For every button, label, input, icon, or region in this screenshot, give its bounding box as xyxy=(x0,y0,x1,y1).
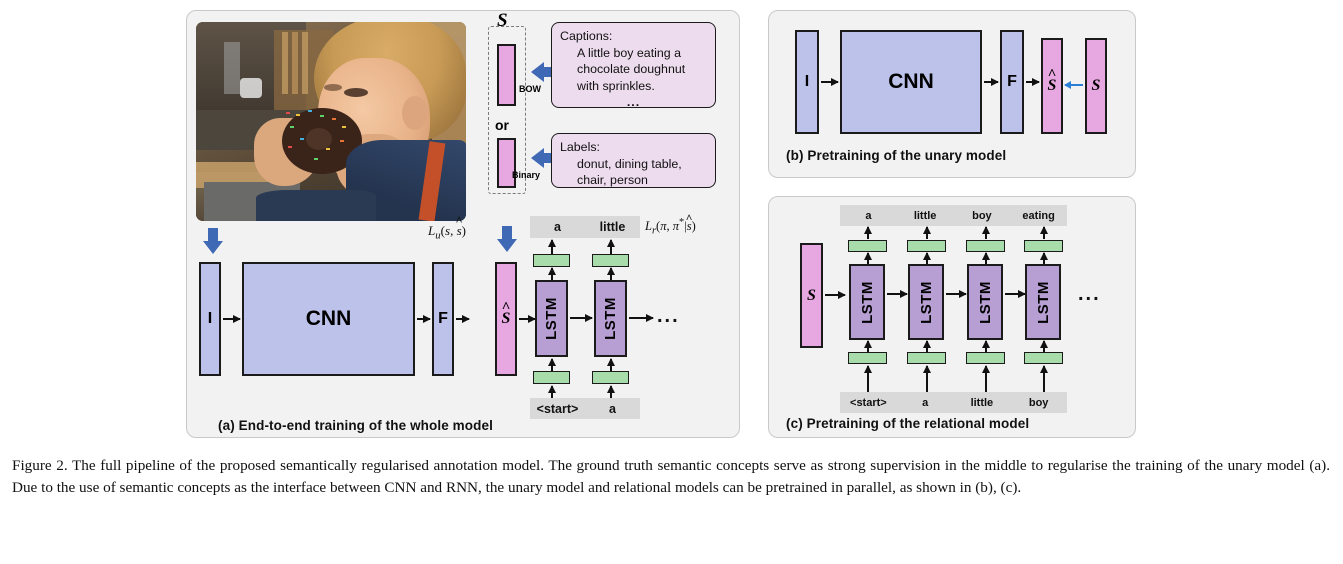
relational-loss-label: Lr(π, π*|s) xyxy=(645,217,696,237)
panel-a-caption: (a) End-to-end training of the whole mod… xyxy=(218,418,493,433)
labels-box: Labels: donut, dining table, chair, pers… xyxy=(551,133,716,188)
arrow-lstm-to-embed-c-3 xyxy=(1043,253,1045,264)
embed-out-c-3 xyxy=(1024,240,1063,252)
arrow-embed-to-lstm-a-1 xyxy=(610,359,612,371)
shat-symbol-a: S xyxy=(502,310,511,328)
unary-loss-label: Lu(s, s) xyxy=(428,223,466,242)
lstm-label-c-0: LSTM xyxy=(859,281,876,324)
arrow-embed-to-word-c-3 xyxy=(1043,227,1045,239)
bow-arrow-label: BOW xyxy=(519,84,541,94)
panel-c-caption: (c) Pretraining of the relational model xyxy=(786,416,1029,431)
arrow-embed-to-lstm-c-1 xyxy=(926,341,928,352)
output-word-c-3: eating xyxy=(1010,210,1067,222)
captions-box: Captions: A little boy eating a chocolat… xyxy=(551,22,716,108)
output-word-a-0: a xyxy=(530,220,585,234)
arrow-CNN-to-F xyxy=(417,318,430,320)
s-symbol-c: S xyxy=(807,287,816,305)
arrow-embed-to-word-a-1 xyxy=(610,240,612,254)
input-word-c-1: a xyxy=(897,397,954,409)
labels-line-1: donut, dining table, xyxy=(560,156,707,173)
arrow-Shat-to-LSTM xyxy=(519,318,535,320)
embed-out-c-1 xyxy=(907,240,946,252)
embed-in-a-1 xyxy=(592,371,629,384)
arrow-word-to-embed-a-0 xyxy=(551,386,553,398)
arrow-embed-to-lstm-c-3 xyxy=(1043,341,1045,352)
arrow-lstm-to-embed-c-1 xyxy=(926,253,928,264)
s-binary-bar xyxy=(497,138,516,188)
output-word-c-1: little xyxy=(897,210,954,222)
embed-out-c-2 xyxy=(966,240,1005,252)
arrow-word-to-embed-c-3 xyxy=(1043,366,1045,392)
arrow-lstm-to-embed-a-0 xyxy=(551,268,553,280)
block-shat-a: S xyxy=(495,262,517,376)
arrow-embed-to-word-c-1 xyxy=(926,227,928,239)
labels-line-2: chair, person xyxy=(560,172,707,189)
lstm-cell-c-1: LSTM xyxy=(908,264,944,340)
captions-ellipsis: ... xyxy=(560,94,707,111)
arrow-embed-to-lstm-c-0 xyxy=(867,341,869,352)
block-feature-F-b: F xyxy=(1000,30,1024,134)
embed-out-c-0 xyxy=(848,240,887,252)
ellipsis-a: ... xyxy=(657,305,680,328)
arrow-word-to-embed-a-1 xyxy=(610,386,612,398)
arrow-S-to-lstm-c xyxy=(825,294,845,296)
panel-b-caption: (b) Pretraining of the unary model xyxy=(786,148,1006,163)
input-word-c-3: boy xyxy=(1010,397,1067,409)
captions-title: Captions: xyxy=(560,28,707,45)
lstm-cell-c-0: LSTM xyxy=(849,264,885,340)
arrow-word-to-embed-c-0 xyxy=(867,366,869,392)
captions-line-3: with sprinkles. xyxy=(560,78,707,95)
lstm-label-c-2: LSTM xyxy=(977,281,994,324)
semantic-symbol-S: S xyxy=(497,10,508,32)
embed-in-c-3 xyxy=(1024,352,1063,364)
embed-in-a-0 xyxy=(533,371,570,384)
arrow-lstm-a-0-to-1 xyxy=(570,317,592,319)
arrow-lstm-c-2-to-3 xyxy=(1005,293,1025,295)
embed-in-c-0 xyxy=(848,352,887,364)
block-input-I-a: I xyxy=(199,262,221,376)
arrow-F-to-Shat-b xyxy=(1026,81,1039,83)
lstm-cell-c-2: LSTM xyxy=(967,264,1003,340)
input-word-a-1: a xyxy=(585,402,640,416)
ellipsis-c: ... xyxy=(1078,283,1101,306)
s-bow-bar xyxy=(497,44,516,106)
lstm-label-a-0: LSTM xyxy=(543,297,560,340)
output-word-strip-c: a little boy eating xyxy=(840,205,1067,226)
input-word-c-0: <start> xyxy=(840,397,897,409)
input-word-strip-c: <start> a little boy xyxy=(840,392,1067,413)
arrow-lstm-c-1-to-2 xyxy=(946,293,966,295)
example-photo xyxy=(196,22,466,221)
arrow-embed-to-lstm-c-2 xyxy=(985,341,987,352)
lstm-cell-a-0: LSTM xyxy=(535,280,568,357)
arrow-I-to-CNN-b xyxy=(821,81,838,83)
binary-arrow-label: Binary xyxy=(512,170,540,180)
labels-title: Labels: xyxy=(560,139,707,156)
arrow-S-to-Shat-b xyxy=(1065,84,1083,86)
arrow-embed-to-lstm-a-0 xyxy=(551,359,553,371)
embed-out-a-0 xyxy=(533,254,570,267)
shat-symbol-b: S xyxy=(1048,77,1057,95)
input-word-strip-a: <start> a xyxy=(530,398,640,419)
block-input-I-b: I xyxy=(795,30,819,134)
arrow-embed-to-word-c-0 xyxy=(867,227,869,239)
arrow-lstm-to-embed-a-1 xyxy=(610,268,612,280)
input-word-a-0: <start> xyxy=(530,402,585,416)
block-cnn-b: CNN xyxy=(840,30,982,134)
lstm-label-a-1: LSTM xyxy=(602,297,619,340)
arrow-word-to-embed-c-1 xyxy=(926,366,928,392)
arrow-I-to-CNN xyxy=(223,318,240,320)
captions-line-2: chocolate doughnut xyxy=(560,61,707,78)
or-label: or xyxy=(495,117,509,133)
captions-line-1: A little boy eating a xyxy=(560,45,707,62)
figure-2: S or BOW Binary Captions: A little boy e… xyxy=(0,0,1343,564)
output-word-c-2: boy xyxy=(954,210,1011,222)
arrow-lstm-a-1-out xyxy=(629,317,653,319)
arrow-embed-to-word-c-2 xyxy=(985,227,987,239)
figure-caption: Figure 2. The full pipeline of the propo… xyxy=(12,455,1330,500)
embed-out-a-1 xyxy=(592,254,629,267)
lstm-cell-a-1: LSTM xyxy=(594,280,627,357)
arrow-CNN-to-F-b xyxy=(984,81,998,83)
embed-in-c-2 xyxy=(966,352,1005,364)
arrow-lstm-to-embed-c-0 xyxy=(867,253,869,264)
block-s-c: S xyxy=(800,243,823,348)
embed-in-c-1 xyxy=(907,352,946,364)
arrow-lstm-c-0-to-1 xyxy=(887,293,907,295)
output-word-c-0: a xyxy=(840,210,897,222)
block-feature-F-a: F xyxy=(432,262,454,376)
lstm-label-c-1: LSTM xyxy=(918,281,935,324)
output-word-strip-a: a little xyxy=(530,216,640,238)
arrow-embed-to-word-a-0 xyxy=(551,240,553,254)
block-shat-b: S xyxy=(1041,38,1063,134)
block-cnn-a: CNN xyxy=(242,262,415,376)
s-symbol-b: S xyxy=(1092,77,1101,95)
input-word-c-2: little xyxy=(954,397,1011,409)
arrow-lstm-to-embed-c-2 xyxy=(985,253,987,264)
lstm-label-c-3: LSTM xyxy=(1035,281,1052,324)
lstm-cell-c-3: LSTM xyxy=(1025,264,1061,340)
block-s-b: S xyxy=(1085,38,1107,134)
arrow-word-to-embed-c-2 xyxy=(985,366,987,392)
output-word-a-1: little xyxy=(585,220,640,234)
arrow-F-to-Shat xyxy=(456,318,469,320)
